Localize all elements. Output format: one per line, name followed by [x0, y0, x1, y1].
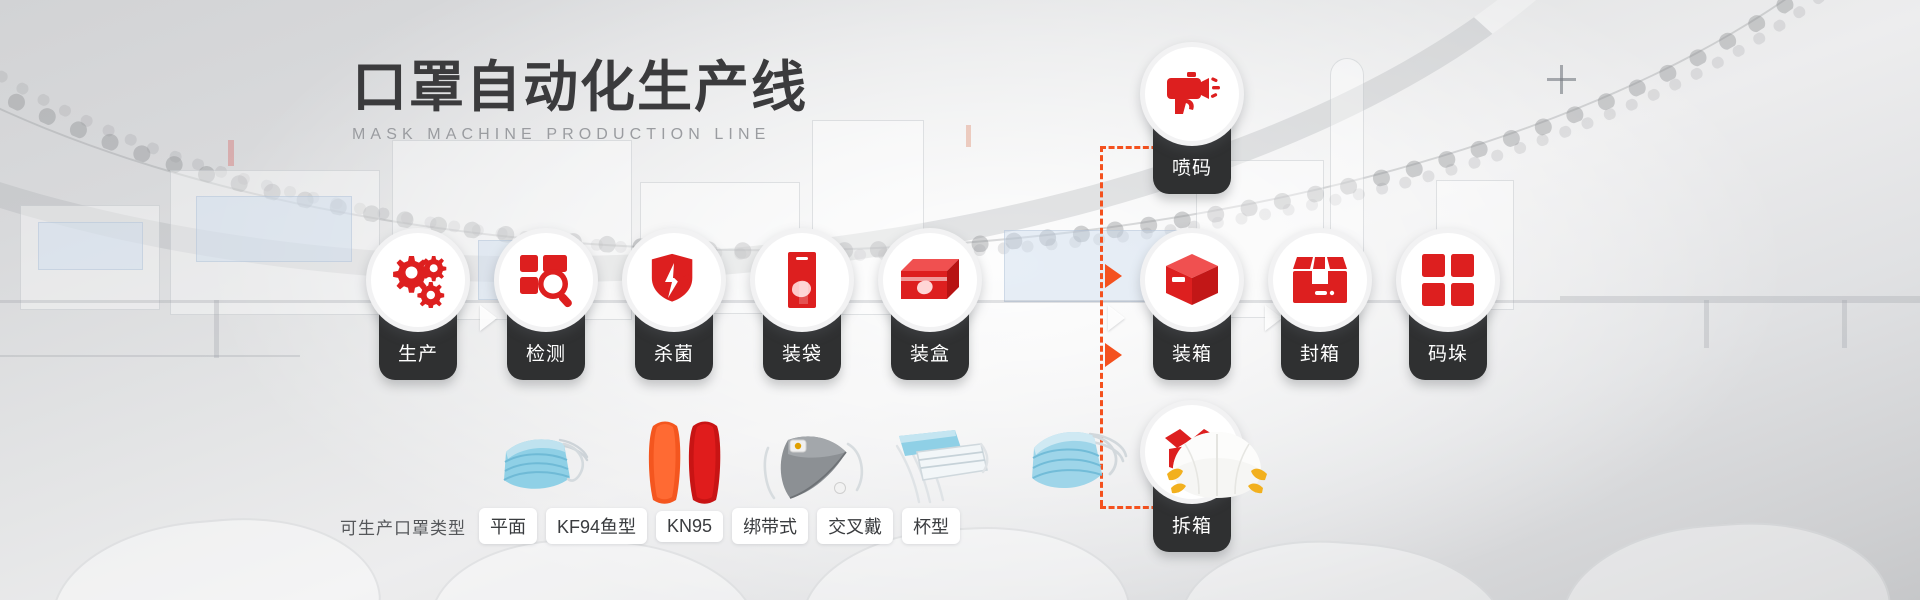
node-icon-bubble [750, 228, 854, 332]
node-label: 喷码 [1153, 153, 1231, 180]
closed-carton-icon [1164, 253, 1220, 307]
inkjet-spray-gun-icon [1163, 70, 1221, 118]
mask-type-chip-cross[interactable]: 交叉戴 [817, 508, 893, 544]
bg-ghost-mask-1 [44, 506, 386, 600]
node-icon-bubble [494, 228, 598, 332]
node-label: 检测 [507, 339, 585, 366]
mask-type-chip-kf94[interactable]: KF94鱼型 [546, 508, 647, 544]
bg-indicator-strip-2 [966, 125, 971, 147]
page-title: 口罩自动化生产线 [352, 58, 808, 117]
bagging-pouch-icon [785, 251, 819, 309]
bg-support-post-2 [1704, 300, 1709, 348]
banner-heading: 口罩自动化生产线 MASK MACHINE PRODUCTION LINE [352, 58, 808, 144]
bg-conveyor-line-3 [0, 355, 300, 357]
node-icon-bubble [622, 228, 726, 332]
bg-machine-block-1 [20, 205, 160, 310]
banner-stage: 口罩自动化生产线 MASK MACHINE PRODUCTION LINE 生产 [0, 0, 1920, 600]
node-icon-bubble [1140, 228, 1244, 332]
mask-thumb-tie-band [885, 428, 995, 513]
node-label: 码垛 [1409, 339, 1487, 366]
node-icon-bubble [366, 228, 470, 332]
bg-support-post-1 [214, 300, 219, 358]
page-subtitle: MASK MACHINE PRODUCTION LINE [352, 126, 808, 144]
node-label: 杀菌 [635, 339, 713, 366]
sealed-box-icon [1291, 255, 1349, 305]
mask-type-chip-kn95[interactable]: KN95 [656, 511, 723, 542]
mask-thumb-cross-wear [1020, 424, 1132, 509]
mask-thumb-kn95-valve [760, 426, 876, 515]
flow-arrow-5 [1108, 305, 1125, 331]
node-label: 装箱 [1153, 339, 1231, 366]
branch-arrow-lower [1105, 343, 1122, 367]
shield-sterilize-icon [646, 252, 702, 308]
bg-conveyor-line-2 [1560, 296, 1920, 300]
magnifier-inspect-icon [518, 252, 574, 308]
node-icon-bubble [878, 228, 982, 332]
mask-types-caption: 可生产口罩类型 [340, 514, 466, 539]
mask-thumb-flat-surgical [490, 430, 600, 509]
bg-machine-block-2 [38, 222, 143, 270]
bg-machine-block-3 [170, 170, 380, 315]
bg-machine-block-4 [196, 196, 352, 262]
node-icon-bubble [1396, 228, 1500, 332]
mask-types-chip-row: 可生产口罩类型 平面 KF94鱼型 KN95 绑带式 交叉戴 杯型 [340, 508, 960, 544]
gears-icon [389, 252, 447, 308]
node-label: 拆箱 [1153, 511, 1231, 538]
bg-indicator-strip [228, 140, 234, 166]
node-icon-bubble [1140, 42, 1244, 146]
node-label: 装盒 [891, 339, 969, 366]
carton-box-icon [899, 257, 961, 303]
bg-support-post-3 [1842, 300, 1847, 348]
flow-arrow-1 [480, 305, 497, 331]
node-icon-bubble [1268, 228, 1372, 332]
mask-type-chip-flat[interactable]: 平面 [479, 508, 537, 544]
mask-type-chip-tieband[interactable]: 绑带式 [732, 508, 808, 544]
bg-ghost-mask-5 [1555, 513, 1895, 600]
palletize-grid-icon [1422, 254, 1474, 306]
mask-type-chip-cup[interactable]: 杯型 [902, 508, 960, 544]
node-label: 装袋 [763, 339, 841, 366]
mask-thumb-cup [1165, 428, 1269, 509]
mask-thumb-kf94-fish [635, 418, 733, 509]
node-label: 生产 [379, 339, 457, 366]
node-label: 封箱 [1281, 339, 1359, 366]
branch-arrow-upper [1105, 264, 1122, 288]
